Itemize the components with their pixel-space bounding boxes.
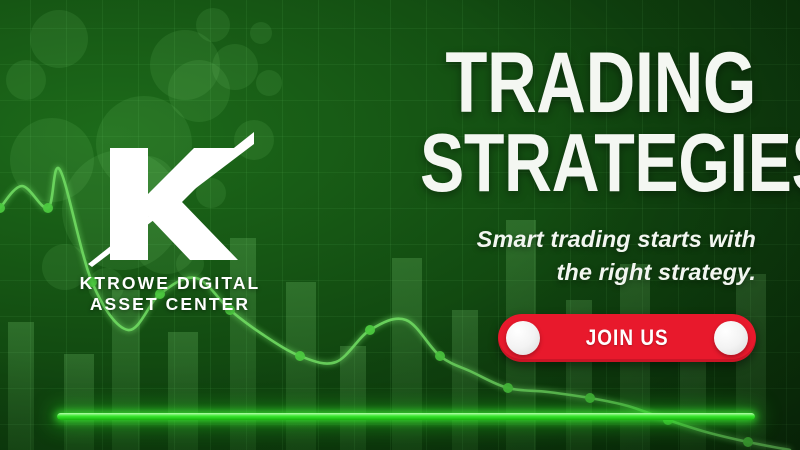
join-us-label: JOIN US [586, 325, 669, 351]
headline: TRADING STRATEGIES [420, 44, 756, 201]
cta-container: JOIN US [336, 314, 756, 362]
join-us-button[interactable]: JOIN US [498, 314, 756, 362]
brand-name-line2: ASSET CENTER [60, 294, 280, 315]
trading-strategies-banner: KTROWE DIGITAL ASSET CENTER TRADING STRA… [0, 0, 800, 450]
brand-logo-text: KTROWE DIGITAL ASSET CENTER [60, 273, 280, 314]
subtitle-line2: the right strategy. [336, 256, 756, 288]
subtitle-line1: Smart trading starts with [336, 223, 756, 255]
knob-left-icon [506, 321, 540, 355]
knob-right-icon [714, 321, 748, 355]
content-block: TRADING STRATEGIES Smart trading starts … [336, 44, 756, 362]
ktrowe-k-logo-icon [86, 132, 254, 267]
glowing-baseline [57, 413, 755, 420]
headline-line2: STRATEGIES [420, 124, 756, 201]
brand-name-line1: KTROWE DIGITAL [60, 273, 280, 294]
headline-line1: TRADING [420, 44, 756, 124]
subtitle: Smart trading starts with the right stra… [336, 223, 756, 288]
brand-logo: KTROWE DIGITAL ASSET CENTER [60, 132, 280, 314]
